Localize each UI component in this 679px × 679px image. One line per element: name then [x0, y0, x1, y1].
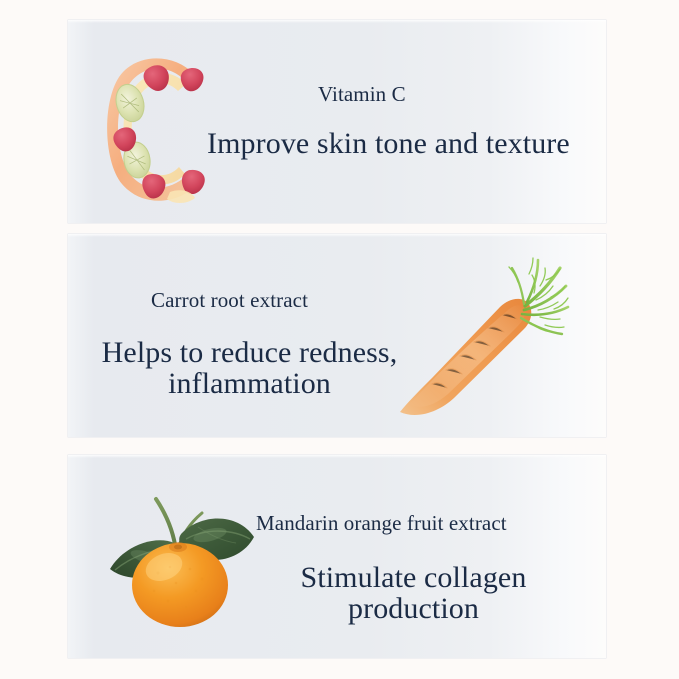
- ingredient-benefits-infographic: Vitamin C Improve skin tone and texture: [0, 0, 679, 679]
- carrot-icon: [388, 252, 570, 424]
- benefit-text-carrot-root-extract: Helps to reduce redness, inflammation: [92, 337, 407, 399]
- letter-c-fruit-icon: [98, 48, 210, 210]
- ingredient-name-vitamin-c: Vitamin C: [318, 84, 406, 106]
- benefit-text-vitamin-c: Improve skin tone and texture: [207, 128, 570, 159]
- mandarin-orange-icon: [98, 483, 270, 633]
- ingredient-name-carrot-root-extract: Carrot root extract: [151, 290, 308, 312]
- benefit-text-mandarin-orange-fruit-extract: Stimulate collagen production: [281, 562, 546, 624]
- ingredient-name-mandarin-orange-fruit-extract: Mandarin orange fruit extract: [256, 513, 507, 535]
